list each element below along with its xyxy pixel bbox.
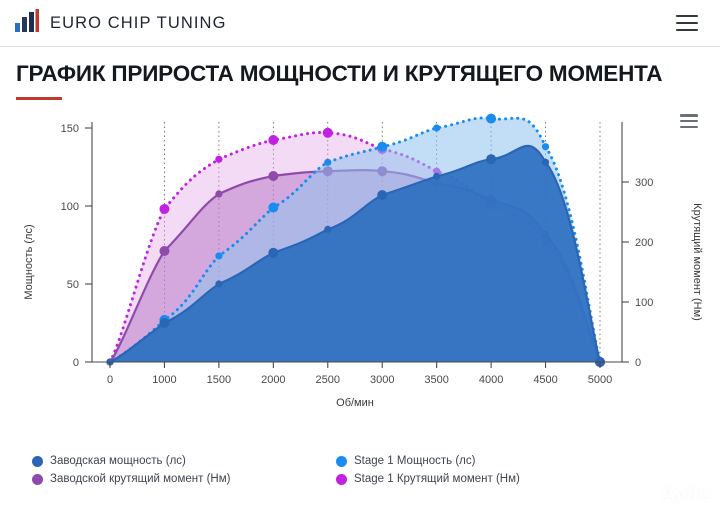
y-axis-title: Мощность (лс) <box>23 225 35 300</box>
data-point[interactable] <box>323 128 333 138</box>
y-tick-label: 50 <box>67 279 79 291</box>
data-point[interactable] <box>268 203 278 213</box>
x-tick-label: 5000 <box>588 374 612 386</box>
x-tick-label: 1500 <box>207 374 231 386</box>
y2-tick-label: 200 <box>635 237 653 249</box>
chart-canvas: 0100015002000250030003500400045005000Об/… <box>0 108 720 488</box>
legend-item-stage1-torque[interactable]: Stage 1 Крутящий момент (Нм) <box>336 473 704 485</box>
x-tick-label: 3500 <box>424 374 448 386</box>
legend-item-stage1-power[interactable]: Stage 1 Мощность (лс) <box>336 455 704 467</box>
data-point[interactable] <box>486 114 496 124</box>
data-point[interactable] <box>215 156 222 163</box>
x-tick-label: 2500 <box>316 374 340 386</box>
brand-logo[interactable]: EURO CHIP TUNING <box>14 9 227 38</box>
x-tick-label: 0 <box>107 374 113 386</box>
data-point[interactable] <box>268 135 278 145</box>
legend-swatch-stock-power <box>32 456 43 467</box>
legend-swatch-stock-torque <box>32 474 43 485</box>
data-point[interactable] <box>377 142 387 152</box>
x-tick-label: 1000 <box>152 374 176 386</box>
y2-tick-label: 0 <box>635 357 641 369</box>
power-torque-chart: 0100015002000250030003500400045005000Об/… <box>0 108 720 488</box>
x-tick-label: 4500 <box>533 374 557 386</box>
legend-item-stock-power[interactable]: Заводская мощность (лс) <box>16 455 336 467</box>
y-tick-label: 0 <box>73 357 79 369</box>
title-underline-rule <box>16 97 62 100</box>
page-title: ГРАФИК ПРИРОСТА МОЩНОСТИ И КРУТЯЩЕГО МОМ… <box>16 61 704 86</box>
legend-item-stock-torque[interactable]: Заводской крутящий момент (Нм) <box>16 473 336 485</box>
legend-label-stock-power: Заводская мощность (лс) <box>50 455 186 467</box>
hamburger-menu-icon[interactable] <box>676 15 698 31</box>
data-point[interactable] <box>159 318 169 328</box>
x-tick-label: 4000 <box>479 374 503 386</box>
data-point[interactable] <box>159 246 169 256</box>
x-axis-title: Об/мин <box>336 397 374 409</box>
legend-label-stock-torque: Заводской крутящий момент (Нм) <box>50 473 230 485</box>
legend-label-stage1-power: Stage 1 Мощность (лс) <box>354 455 475 467</box>
legend-label-stage1-torque: Stage 1 Крутящий момент (Нм) <box>354 473 520 485</box>
data-point[interactable] <box>324 159 331 166</box>
y2-tick-label: 300 <box>635 177 653 189</box>
data-point[interactable] <box>215 253 222 260</box>
data-point[interactable] <box>433 125 440 132</box>
data-point[interactable] <box>542 143 549 150</box>
legend-swatch-stage1-power <box>336 456 347 467</box>
chart-legend: Заводская мощность (лс) Stage 1 Мощность… <box>0 455 720 485</box>
data-point[interactable] <box>324 226 331 233</box>
data-point[interactable] <box>268 171 278 181</box>
y2-tick-label: 100 <box>635 297 653 309</box>
y-tick-label: 150 <box>61 123 79 135</box>
brand-name: EURO CHIP TUNING <box>50 14 227 33</box>
data-point[interactable] <box>159 204 169 214</box>
site-header: EURO CHIP TUNING <box>0 0 720 47</box>
legend-swatch-stage1-torque <box>336 474 347 485</box>
x-tick-label: 2000 <box>261 374 285 386</box>
y2-axis-title: Крутящий момент (Нм) <box>691 203 703 321</box>
y-tick-label: 100 <box>61 201 79 213</box>
page-title-section: ГРАФИК ПРИРОСТА МОЩНОСТИ И КРУТЯЩЕГО МОМ… <box>0 47 720 100</box>
chart-context-menu-icon[interactable] <box>680 114 698 128</box>
x-tick-label: 3000 <box>370 374 394 386</box>
data-point[interactable] <box>215 191 222 198</box>
data-point[interactable] <box>542 159 549 166</box>
bar-chart-logo-icon <box>14 9 40 38</box>
data-point[interactable] <box>433 173 440 180</box>
data-point[interactable] <box>377 190 387 200</box>
data-point[interactable] <box>215 281 222 288</box>
data-point[interactable] <box>486 154 496 164</box>
data-point[interactable] <box>268 248 278 258</box>
